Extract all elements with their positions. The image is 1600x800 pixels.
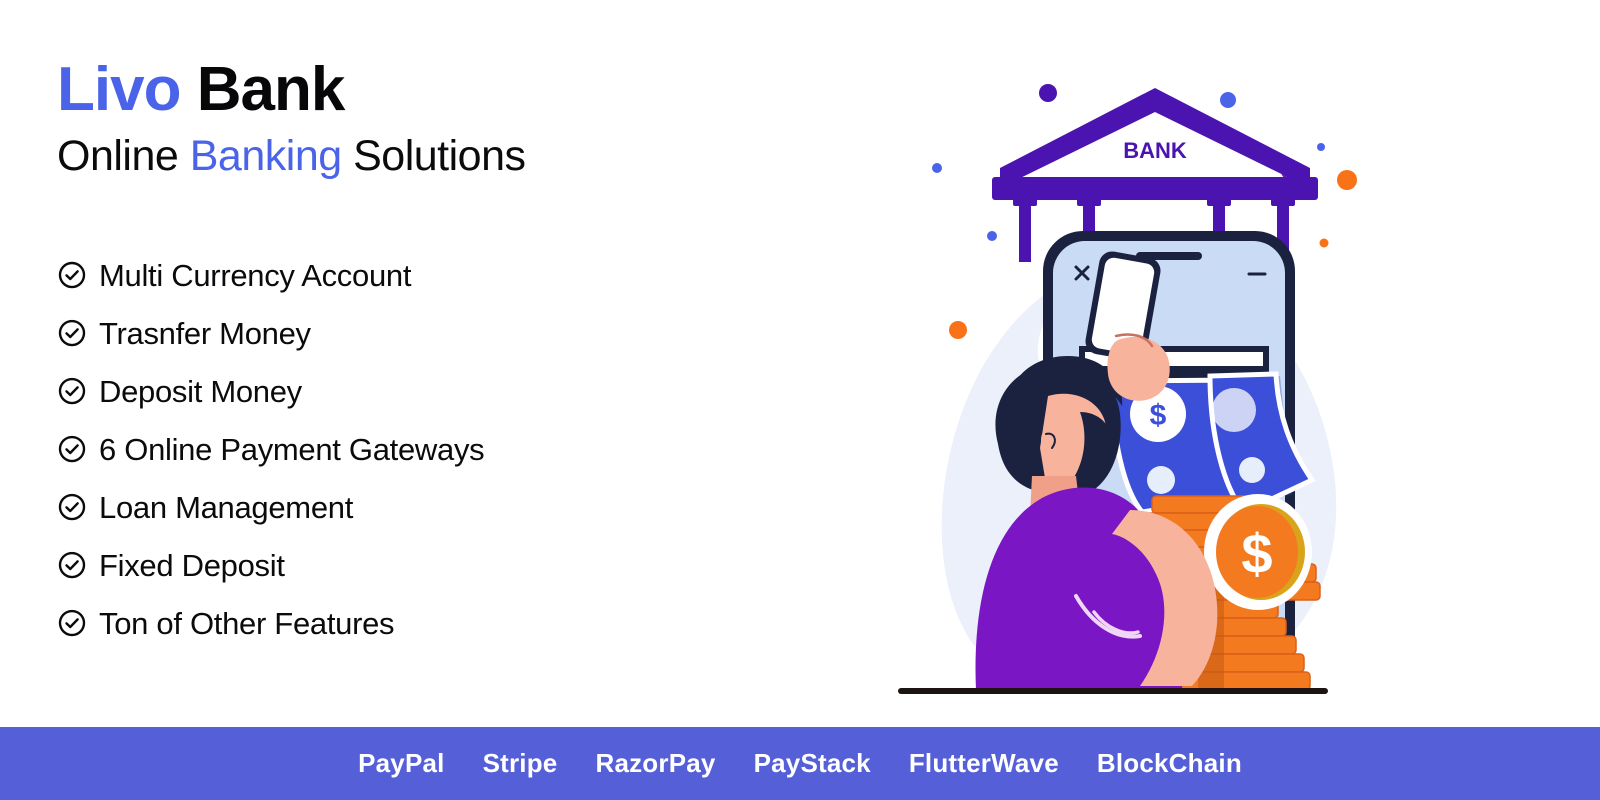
payment-provider-blockchain[interactable]: BlockChain — [1097, 748, 1242, 779]
feature-label: Deposit Money — [99, 376, 302, 407]
feature-list: Multi Currency Account Trasnfer Money De… — [57, 246, 777, 652]
check-circle-icon — [57, 376, 87, 406]
list-item: Trasnfer Money — [57, 304, 777, 362]
feature-label: Fixed Deposit — [99, 550, 285, 581]
feature-label: Multi Currency Account — [99, 260, 411, 291]
feature-label: 6 Online Payment Gateways — [99, 434, 484, 465]
dot-blue-icon — [1220, 92, 1236, 108]
list-item: 6 Online Payment Gateways — [57, 420, 777, 478]
tagline-pre: Online — [57, 132, 178, 180]
list-item: Deposit Money — [57, 362, 777, 420]
banking-illustration: BANK — [880, 40, 1480, 710]
brand-name-accent: Livo — [57, 55, 180, 124]
check-circle-icon — [57, 492, 87, 522]
dot-purple-icon — [1039, 84, 1057, 102]
promo-banner: Livo Bank Online Banking Solutions Multi… — [0, 0, 1600, 800]
payment-provider-stripe[interactable]: Stripe — [483, 748, 558, 779]
tagline-post: Solutions — [353, 132, 525, 180]
payment-provider-paypal[interactable]: PayPal — [358, 748, 445, 779]
check-circle-icon — [57, 318, 87, 348]
banknote-dollar-symbol: $ — [1150, 399, 1167, 432]
dot-orange-small-icon — [1320, 239, 1329, 248]
check-circle-icon — [57, 608, 87, 638]
dot-orange-icon — [949, 321, 967, 339]
list-item: Loan Management — [57, 478, 777, 536]
brand-title: Livo Bank — [57, 55, 777, 124]
tagline-accent: Banking — [190, 132, 342, 180]
dot-blue-small-icon — [932, 163, 942, 173]
coin-dollar-symbol: $ — [1241, 522, 1272, 585]
list-item: Fixed Deposit — [57, 536, 777, 594]
check-circle-icon — [57, 434, 87, 464]
bank-sign-text: BANK — [1123, 138, 1187, 163]
payment-provider-flutterwave[interactable]: FlutterWave — [909, 748, 1059, 779]
dollar-coin: $ — [1204, 494, 1312, 610]
feature-label: Ton of Other Features — [99, 608, 394, 639]
brand-name-dark: Bank — [197, 55, 345, 124]
dot-blue-small-icon — [1317, 143, 1325, 151]
feature-label: Trasnfer Money — [99, 318, 311, 349]
dot-orange-icon — [1337, 170, 1357, 190]
ground-line — [898, 688, 1328, 694]
left-content-column: Livo Bank Online Banking Solutions Multi… — [57, 55, 777, 652]
check-circle-icon — [57, 260, 87, 290]
check-circle-icon — [57, 550, 87, 580]
payment-provider-razorpay[interactable]: RazorPay — [595, 748, 715, 779]
dot-blue-small-icon — [987, 231, 997, 241]
feature-label: Loan Management — [99, 492, 353, 523]
list-item: Multi Currency Account — [57, 246, 777, 304]
list-item: Ton of Other Features — [57, 594, 777, 652]
payment-providers-footer: PayPal Stripe RazorPay PayStack FlutterW… — [0, 727, 1600, 800]
payment-provider-paystack[interactable]: PayStack — [754, 748, 871, 779]
brand-tagline: Online Banking Solutions — [57, 130, 777, 184]
